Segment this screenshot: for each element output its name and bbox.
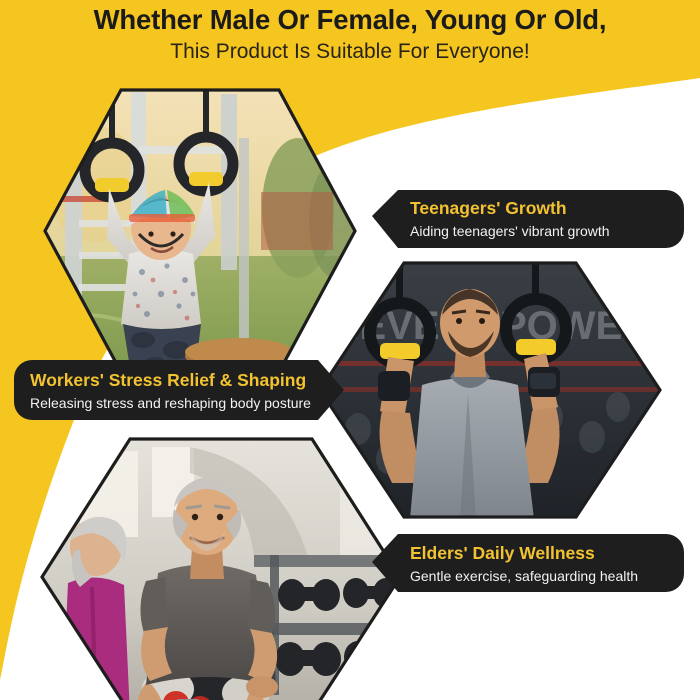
badge-description-workers: Releasing stress and reshaping body post… bbox=[30, 395, 311, 411]
badge-description-elders: Gentle exercise, safeguarding health bbox=[410, 568, 638, 584]
badge-title-workers: Workers' Stress Relief & Shaping bbox=[30, 370, 306, 390]
feature-badge-teenagers[interactable]: Teenagers' Growth Aiding teenagers' vibr… bbox=[372, 184, 684, 248]
infographic-canvas: Whether Male Or Female, Young Or Old, Th… bbox=[0, 0, 700, 700]
badge-description-teenagers: Aiding teenagers' vibrant growth bbox=[410, 223, 610, 239]
badge-title-elders: Elders' Daily Wellness bbox=[410, 543, 595, 563]
badge-title-teenagers: Teenagers' Growth bbox=[410, 198, 567, 218]
page-title: Whether Male Or Female, Young Or Old, bbox=[0, 4, 700, 36]
page-subtitle: This Product Is Suitable For Everyone! bbox=[0, 39, 700, 65]
feature-photo-elders bbox=[40, 437, 402, 700]
headline-block: Whether Male Or Female, Young Or Old, Th… bbox=[0, 4, 700, 66]
feature-badge-elders[interactable]: Elders' Daily Wellness Gentle exercise, … bbox=[372, 530, 684, 594]
feature-badge-workers[interactable]: Workers' Stress Relief & Shaping Releasi… bbox=[14, 358, 344, 422]
feature-photo-teenagers bbox=[43, 88, 357, 374]
